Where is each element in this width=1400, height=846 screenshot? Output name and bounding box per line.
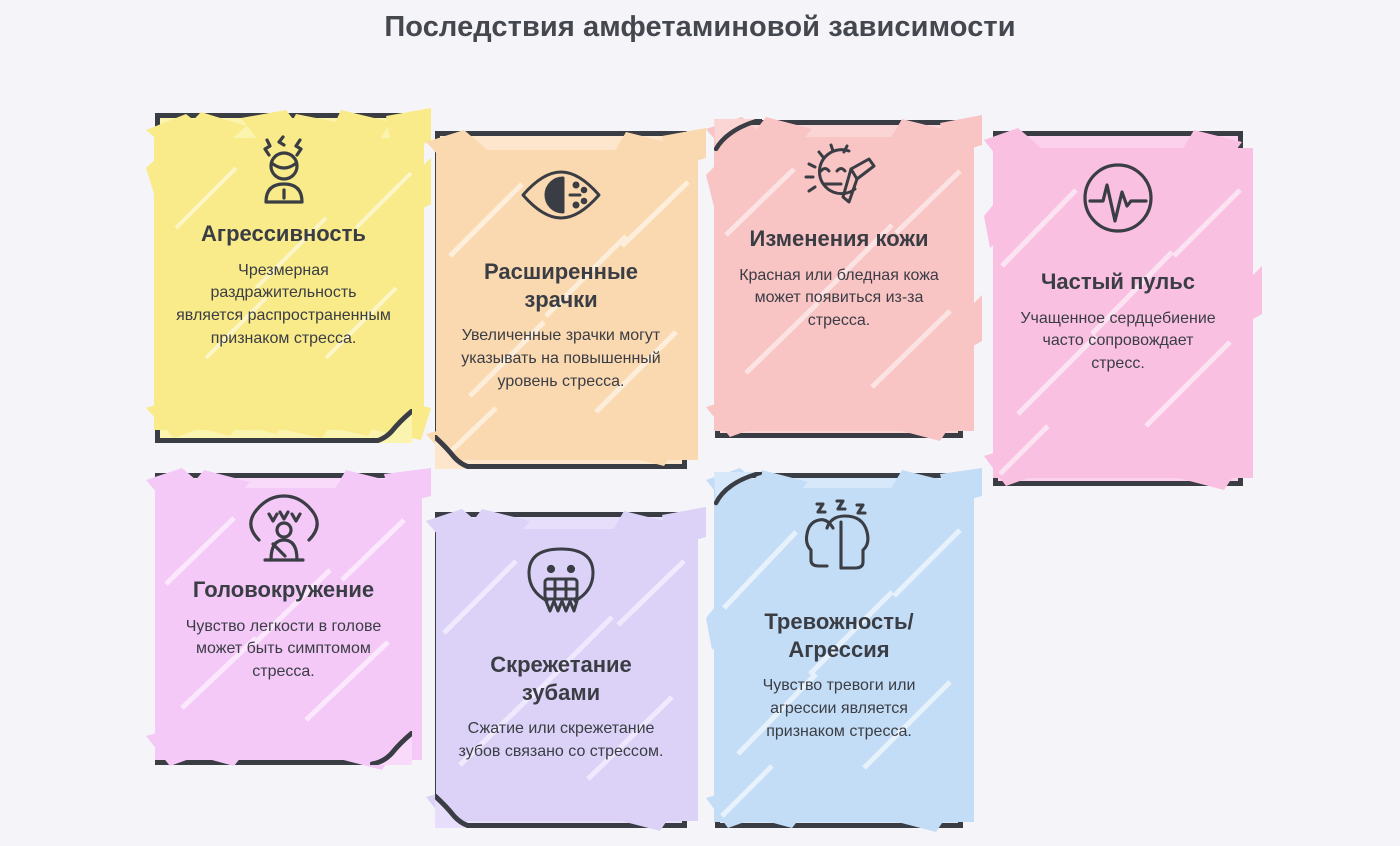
card-dizziness[interactable]: Головокружение Чувство легкости в голове… — [155, 473, 412, 765]
card-title: Тревожность/ Агрессия — [736, 608, 942, 663]
card-title: Скрежетание зубами — [456, 651, 666, 706]
card-body: Сжатие или скрежетание зубов связано со … — [456, 718, 666, 763]
page-title: Последствия амфетаминовой зависимости — [0, 0, 1400, 46]
card-title: Головокружение — [193, 576, 374, 604]
card-teeth-grinding[interactable]: Скрежетание зубами Сжатие или скрежетани… — [435, 512, 687, 828]
grinding-teeth-face-icon — [521, 541, 601, 619]
folded-corner-icon — [370, 409, 412, 443]
card-title: Частый пульс — [1041, 268, 1195, 296]
infographic-board: Последствия амфетаминовой зависимости — [0, 0, 1400, 846]
card-body: Учащенное сердцебиение часто сопровождае… — [1014, 308, 1222, 376]
folded-corner-icon — [370, 731, 412, 765]
card-body: Чрезмерная раздражительность является ра… — [176, 260, 391, 351]
dizzy-person-icon — [241, 492, 327, 566]
card-aggression[interactable]: Агрессивность Чрезмерная раздражительнос… — [155, 113, 412, 443]
card-title: Расширенные зрачки — [456, 258, 666, 313]
card-dilated-pupils[interactable]: Расширенные зрачки Увеличенные зрачки мо… — [435, 131, 687, 469]
two-heads-lightning-icon — [797, 498, 881, 578]
card-anxiety-aggression[interactable]: Тревожность/ Агрессия Чувство тревоги ил… — [715, 473, 963, 828]
card-title: Агрессивность — [201, 220, 366, 248]
card-title: Изменения кожи — [750, 225, 929, 253]
card-body: Чувство легкости в голове может быть сим… — [176, 616, 391, 684]
card-skin-changes[interactable]: Изменения кожи Красная или бледная кожа … — [715, 120, 963, 438]
folded-corner-icon — [435, 794, 475, 828]
folded-corner-icon — [435, 435, 475, 469]
heartbeat-pulse-icon — [1078, 158, 1158, 238]
card-rapid-pulse[interactable]: Частый пульс Учащенное сердцебиение част… — [993, 131, 1243, 486]
eye-dilated-pupil-icon — [518, 164, 604, 226]
card-body: Увеличенные зрачки могут указывать на по… — [456, 325, 666, 393]
face-with-brush-icon — [799, 139, 879, 215]
card-body: Чувство тревоги или агрессии является пр… — [736, 675, 942, 743]
card-body: Красная или бледная кожа может появиться… — [736, 265, 942, 333]
angry-person-icon — [245, 132, 323, 210]
